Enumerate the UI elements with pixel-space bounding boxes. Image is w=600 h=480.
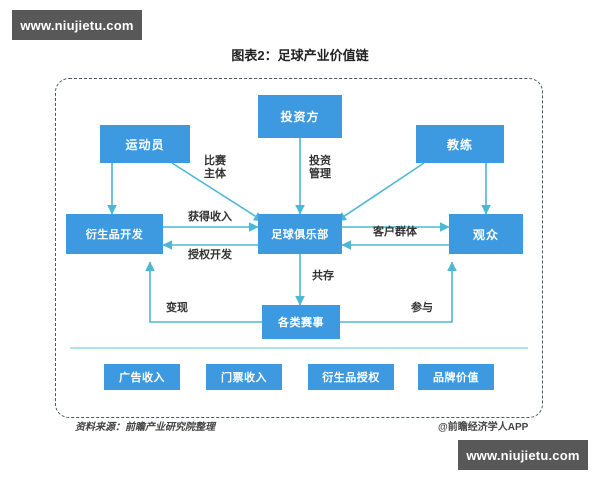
node-derivative-development[interactable]: 衍生品开发 [66,214,163,254]
node-investor[interactable]: 投资方 [258,95,342,138]
node-football-club-label: 足球俱乐部 [271,226,329,242]
node-coach[interactable]: 教练 [416,125,504,163]
bottom-item-1[interactable]: 门票收入 [206,364,282,390]
bottom-item-0[interactable]: 广告收入 [104,364,180,390]
edge-label-customer-group: 客户群体 [355,226,435,239]
bottom-item-2-label: 衍生品授权 [322,369,380,385]
edge-label-license-development: 授权开发 [170,249,250,262]
node-athlete-label: 运动员 [125,136,164,153]
edge-label-match-subject-line1: 比赛 [193,155,237,168]
node-coach-label: 教练 [447,136,473,153]
source-note: 资料来源：前瞻产业研究院整理 [75,418,215,433]
edge-label-investment-management-line2: 管理 [303,168,337,181]
edge-label-participate: 参与 [405,302,439,315]
credit-note: @前瞻经济学人APP [438,418,528,433]
node-derivative-development-label: 衍生品开发 [86,226,144,242]
bottom-item-0-label: 广告收入 [119,369,165,385]
edge-label-investment-management-line1: 投资 [303,155,337,168]
node-football-club[interactable]: 足球俱乐部 [258,214,342,254]
bottom-item-1-label: 门票收入 [221,369,267,385]
edge-label-match-subject: 比赛 主体 [193,155,237,181]
bottom-item-2[interactable]: 衍生品授权 [308,364,394,390]
edge-label-investment-management: 投资 管理 [303,155,337,181]
bottom-item-3-label: 品牌价值 [433,369,479,385]
edge-label-match-subject-line2: 主体 [193,168,237,181]
bottom-item-3[interactable]: 品牌价值 [418,364,494,390]
edge-label-coexist: 共存 [306,270,340,283]
node-audience-label: 观众 [473,226,499,243]
edge-label-monetize: 变现 [160,302,194,315]
node-investor-label: 投资方 [280,108,319,125]
edge-label-gain-income: 获得收入 [170,211,250,224]
node-audience[interactable]: 观众 [449,214,523,254]
node-athlete[interactable]: 运动员 [100,125,190,163]
node-events-label: 各类赛事 [278,314,324,330]
node-events[interactable]: 各类赛事 [262,305,340,339]
